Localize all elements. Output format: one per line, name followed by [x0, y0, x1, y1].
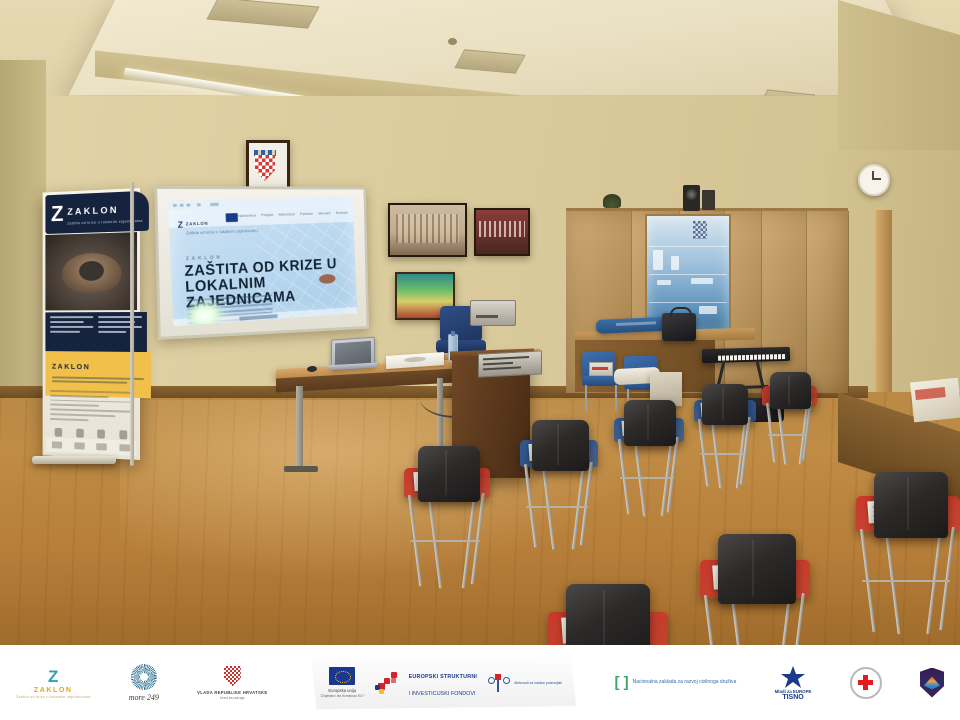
esf-icon [487, 674, 511, 692]
nav-item[interactable]: Partneri [300, 212, 313, 216]
rollup-bullet-column [98, 316, 142, 354]
esf-title: Aktivnosti za snažne potencijale [514, 681, 562, 685]
chair-backrest[interactable] [702, 384, 748, 425]
rollup-body-text [50, 390, 132, 425]
esi-fondovi-icon [375, 672, 405, 694]
nav-item[interactable]: Projekt [261, 213, 273, 217]
esf-logo: Aktivnosti za snažne potencijale [487, 674, 562, 692]
chair-rail [620, 477, 674, 479]
nav-item[interactable]: Kontakt [336, 211, 348, 215]
esi-fondovi-logo: EUROPSKI STRUKTURNI I INVESTICIJSKI FOND… [375, 666, 478, 700]
croatian-checkerboard-icon [224, 666, 241, 687]
hands-illustration [62, 252, 121, 292]
chair-backrest[interactable] [624, 400, 676, 446]
eu-flag-icon [329, 667, 355, 685]
eu-funding-ribbon: Europska unija "Zajedno do fondova EU" E… [306, 656, 576, 710]
chair-backrest[interactable] [532, 420, 589, 471]
cabinet-door[interactable] [806, 211, 849, 393]
site-logo-letter: Z [177, 219, 183, 229]
chair-rail [862, 580, 950, 582]
star-icon [780, 665, 806, 689]
coat-of-arms-checkerboard [255, 155, 275, 181]
zaklon-logo-letter: Z [48, 667, 58, 687]
nav-item[interactable]: Novosti [319, 211, 331, 215]
rollup-funder-logos [46, 437, 136, 456]
rollup-logo-letter: Z [51, 203, 64, 225]
more-249-icon [131, 664, 157, 690]
nav-item[interactable]: Aktivnosti [279, 212, 295, 216]
rollup-base [32, 456, 116, 464]
esi-fondovi-line2: I INVESTICIJSKI FONDOVI [409, 691, 476, 697]
eu-flag-logo: Europska unija "Zajedno do fondova EU" [320, 667, 365, 698]
rollup-pole [130, 182, 134, 465]
wall-clock-icon [858, 164, 890, 196]
vlada-rh-title: VLADA REPUBLIKE HRVATSKE [197, 690, 267, 695]
zaklon-logo-sub: Zaštita od krize u lokalnim zajednicama [16, 695, 90, 699]
rollup-yellow-title: ZAKLON [52, 362, 90, 371]
tisno-europe-logo: Mladi za EUROPE TISNO [775, 665, 812, 701]
coat-of-arms-icon [249, 143, 287, 191]
zaklon-logo: Z ZAKLON Zaštita od krize u lokalnim zaj… [16, 667, 90, 699]
more-249-title: more 249 [129, 693, 159, 702]
wall-column [876, 210, 892, 410]
esi-fondovi-line1: EUROPSKI STRUKTURNI [409, 674, 478, 680]
tisno-europe-line2: TISNO [782, 694, 803, 701]
chair-rail [768, 434, 807, 436]
more-249-logo: more 249 [129, 664, 159, 702]
chair-backrest[interactable] [418, 446, 480, 502]
crveni-kriz-logo [850, 667, 882, 699]
whiteboard-projection-screen: Z ZAKLON Zaštita od krize u lokalnim zaj… [154, 186, 369, 340]
chair-backrest[interactable] [874, 472, 948, 538]
chair-rail [526, 506, 588, 508]
civilna-zastita-logo [920, 668, 944, 698]
black-shoulder-bag[interactable] [662, 313, 696, 341]
vlada-rh-sub: Ured za udruge [220, 696, 245, 700]
smoke-detector-icon [448, 38, 457, 45]
site-logo-sub: Zaštita od krize u lokalnim zajednicama [186, 228, 259, 235]
eu-flag-sub: "Zajedno do fondova EU" [320, 693, 365, 698]
display-case-emblem [693, 221, 707, 239]
chair-rail [700, 453, 746, 455]
nav-item[interactable]: Naslovnica [237, 214, 256, 218]
chair-backrest[interactable] [770, 372, 811, 409]
far-right-cloth [910, 378, 960, 423]
zaklon-logo-title: ZAKLON [34, 687, 73, 694]
nacionalna-zaklada-logo: [ ] Nacionalna zaklada za razvoj civilno… [614, 674, 736, 691]
desk-leg [296, 386, 303, 470]
cabinet-top-object [702, 190, 715, 210]
rollup-logo-name: ZAKLON [67, 205, 119, 218]
cabinet-door[interactable] [761, 211, 807, 393]
rollup-banner: Z ZAKLON Zaštita od krize u lokalnim zaj… [43, 188, 140, 460]
screenshot-root: Z ZAKLON Zaštita od krize u lokalnim zaj… [0, 0, 960, 720]
framed-photo-group [474, 208, 530, 256]
plant-decor [603, 194, 621, 208]
vlada-rh-logo: VLADA REPUBLIKE HRVATSKE Ured za udruge [197, 666, 267, 700]
nacionalna-zaklada-title: Nacionalna zaklada za razvoj civilnoga d… [633, 679, 737, 686]
bracket-icon: [ ] [614, 674, 628, 691]
supply-box[interactable] [589, 362, 613, 376]
framed-photo-basilica [388, 203, 467, 257]
desk-foot [284, 466, 318, 472]
rollup-bullet-column [50, 316, 93, 353]
chair-backrest[interactable] [566, 584, 650, 645]
sponsor-logo-strip: Z ZAKLON Zaštita od krize u lokalnim zaj… [0, 645, 960, 720]
chair-rail [410, 540, 480, 542]
electronic-keyboard[interactable] [702, 347, 790, 363]
site-logo-name: ZAKLON [186, 221, 209, 227]
chair-backrest[interactable] [718, 534, 796, 604]
av-equipment-box[interactable] [470, 300, 516, 326]
speaker-icon [683, 185, 700, 211]
projected-website: Z ZAKLON Zaštita od krize u lokalnim zaj… [168, 197, 357, 326]
conference-room: Z ZAKLON Zaštita od krize u lokalnim zaj… [0, 0, 960, 645]
civil-protection-shield-icon [920, 668, 944, 698]
av-rack-unit[interactable] [478, 350, 542, 377]
red-cross-icon [850, 667, 882, 699]
rollup-photo-hands [45, 232, 137, 310]
